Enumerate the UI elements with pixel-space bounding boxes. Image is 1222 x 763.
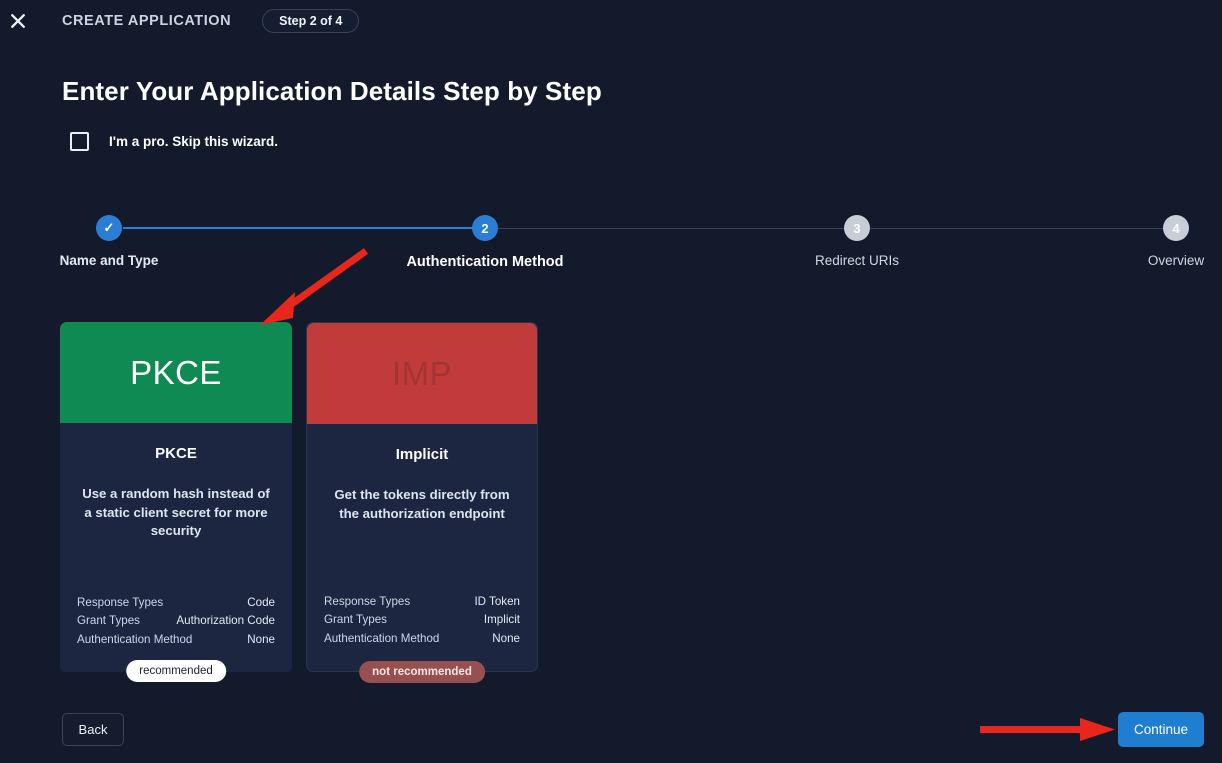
spec-label: Response Types: [324, 593, 410, 611]
back-button[interactable]: Back: [62, 713, 124, 746]
annotation-arrow-to-continue-button: [975, 713, 1125, 758]
spec-value: None: [247, 631, 275, 649]
spec-label: Response Types: [77, 594, 163, 612]
spec-label: Grant Types: [324, 611, 387, 629]
auth-method-card-pkce[interactable]: PKCE PKCE Use a random hash instead of a…: [60, 322, 292, 672]
checkbox-box: [70, 132, 89, 151]
continue-button[interactable]: Continue: [1118, 712, 1204, 747]
card-specs-implicit: Response Types ID Token Grant Types Impl…: [324, 593, 520, 648]
stepper-bullet-2[interactable]: 2: [472, 215, 498, 241]
stepper-step-name-and-type[interactable]: ✓ Name and Type: [19, 215, 199, 268]
spec-row: Response Types ID Token: [324, 593, 520, 611]
stepper-label-2: Authentication Method: [395, 254, 575, 270]
spec-label: Authentication Method: [77, 631, 192, 649]
stepper-step-overview[interactable]: 4 Overview: [1086, 215, 1222, 268]
stepper-bullet-3[interactable]: 3: [844, 215, 870, 241]
stepper-step-authentication-method[interactable]: 2 Authentication Method: [395, 215, 575, 270]
card-banner-implicit: IMP: [307, 323, 537, 424]
spec-value: ID Token: [474, 593, 520, 611]
card-title-pkce: PKCE: [60, 445, 292, 462]
spec-value: Authorization Code: [176, 612, 275, 630]
card-description-implicit: Get the tokens directly from the authori…: [325, 486, 519, 523]
spec-value: Implicit: [484, 611, 520, 629]
card-banner-pkce: PKCE: [60, 322, 292, 423]
stepper-step-redirect-uris[interactable]: 3 Redirect URIs: [767, 215, 947, 268]
spec-value: Code: [247, 594, 275, 612]
stepper-bullet-check[interactable]: ✓: [96, 215, 122, 241]
spec-label: Grant Types: [77, 612, 140, 630]
spec-value: None: [492, 630, 520, 648]
spec-row: Grant Types Implicit: [324, 611, 520, 629]
card-badge-not-recommended: not recommended: [359, 661, 485, 683]
skip-wizard-checkbox[interactable]: [60, 122, 98, 160]
stepper-label-1: Name and Type: [19, 253, 199, 268]
spec-row: Authentication Method None: [324, 630, 520, 648]
topbar: CREATE APPLICATION Step 2 of 4: [0, 0, 1222, 41]
card-description-pkce: Use a random hash instead of a static cl…: [78, 485, 274, 541]
page-title: Enter Your Application Details Step by S…: [62, 76, 602, 107]
auth-method-card-implicit[interactable]: IMP Implicit Get the tokens directly fro…: [306, 322, 538, 672]
card-title-implicit: Implicit: [307, 446, 537, 463]
stepper-label-3: Redirect URIs: [767, 253, 947, 268]
stepper-label-4: Overview: [1086, 253, 1222, 268]
step-indicator-pill[interactable]: Step 2 of 4: [262, 9, 359, 33]
spec-row: Authentication Method None: [77, 631, 275, 649]
stepper-connector-3-4: [870, 228, 1163, 229]
card-badge-recommended: recommended: [126, 660, 226, 682]
stepper-bullet-4[interactable]: 4: [1163, 215, 1189, 241]
stepper-connector-1-2: [123, 227, 473, 229]
skip-wizard-row[interactable]: I'm a pro. Skip this wizard.: [60, 122, 278, 160]
topbar-title: CREATE APPLICATION: [62, 13, 231, 29]
skip-wizard-label[interactable]: I'm a pro. Skip this wizard.: [109, 134, 278, 149]
spec-row: Response Types Code: [77, 594, 275, 612]
card-specs-pkce: Response Types Code Grant Types Authoriz…: [77, 594, 275, 649]
stepper-connector-2-3: [498, 228, 844, 229]
spec-row: Grant Types Authorization Code: [77, 612, 275, 630]
close-icon[interactable]: [3, 6, 33, 36]
wizard-stepper: ✓ Name and Type 2 Authentication Method …: [0, 215, 1222, 285]
spec-label: Authentication Method: [324, 630, 439, 648]
